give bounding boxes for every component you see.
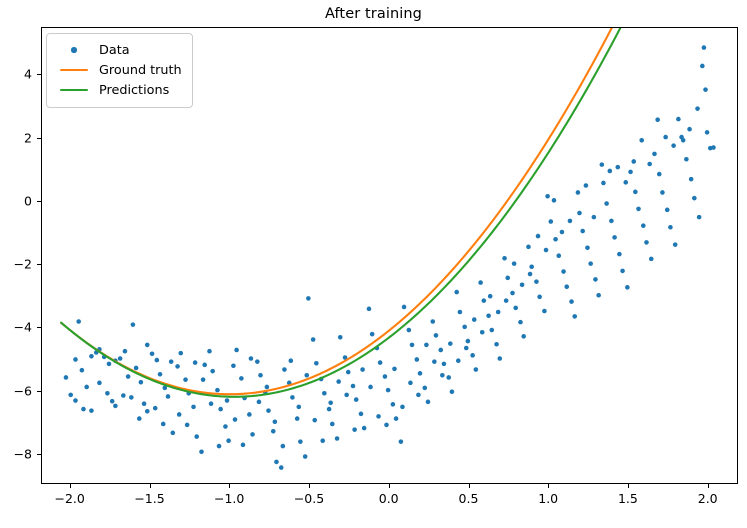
data-point — [458, 310, 463, 315]
data-point — [113, 404, 118, 409]
data-point — [142, 401, 147, 406]
data-point — [600, 162, 605, 167]
data-point — [657, 172, 662, 177]
data-point — [615, 165, 620, 170]
y-tick-label: −4 — [0, 320, 32, 335]
data-point — [450, 389, 455, 394]
data-point — [215, 388, 220, 393]
data-point — [391, 402, 396, 407]
data-point — [572, 314, 577, 319]
y-tick-label: −8 — [0, 447, 32, 462]
data-point — [351, 384, 356, 389]
legend-line-icon — [55, 89, 93, 92]
data-point — [346, 370, 351, 375]
data-point — [64, 375, 69, 380]
data-point — [488, 294, 493, 299]
data-point — [454, 290, 459, 295]
data-point — [134, 366, 139, 371]
data-point — [118, 356, 123, 361]
data-point — [529, 264, 534, 269]
legend-item: Predictions — [55, 80, 184, 100]
legend-item: Ground truth — [55, 60, 184, 80]
data-point — [580, 229, 585, 234]
data-point — [644, 240, 649, 245]
data-point — [73, 357, 78, 362]
y-tick-mark — [37, 74, 41, 75]
data-point — [440, 373, 445, 378]
data-point — [612, 235, 617, 240]
scatter-points — [64, 45, 716, 470]
data-point — [367, 307, 372, 312]
data-point — [684, 157, 689, 162]
y-tick-mark — [37, 138, 41, 139]
data-point — [518, 320, 523, 325]
legend-marker-icon — [55, 47, 93, 52]
data-point — [158, 372, 163, 377]
data-point — [556, 253, 561, 258]
data-point — [225, 398, 230, 403]
data-point — [486, 314, 491, 319]
data-point — [470, 353, 475, 358]
data-point — [620, 269, 625, 274]
data-point — [399, 439, 404, 444]
x-tick-label: −2.0 — [55, 491, 85, 506]
data-point — [330, 422, 335, 427]
data-point — [408, 381, 413, 386]
data-point — [247, 412, 252, 417]
data-point — [601, 181, 606, 186]
x-tick-mark — [548, 484, 549, 488]
data-point — [131, 322, 136, 327]
legend: DataGround truthPredictions — [46, 33, 193, 108]
data-point — [258, 373, 263, 378]
data-point — [448, 341, 453, 346]
data-point — [359, 412, 364, 417]
data-point — [210, 369, 215, 374]
legend-item-label: Data — [93, 43, 130, 58]
data-point — [528, 272, 533, 277]
x-tick-mark — [389, 484, 390, 488]
data-point — [378, 360, 383, 365]
data-point — [303, 454, 308, 459]
data-point — [564, 284, 569, 289]
data-point — [384, 423, 389, 428]
data-point — [545, 194, 550, 199]
data-point — [585, 246, 590, 251]
data-point — [266, 408, 271, 413]
legend-item-label: Predictions — [93, 83, 169, 98]
data-point — [233, 417, 238, 422]
data-point — [652, 152, 657, 157]
data-point — [394, 416, 399, 421]
data-point — [129, 395, 134, 400]
data-point — [456, 358, 461, 363]
data-point — [430, 319, 435, 324]
data-point — [649, 257, 654, 262]
data-point — [510, 291, 515, 296]
data-point — [360, 367, 365, 372]
data-point — [177, 412, 182, 417]
data-point — [255, 359, 260, 364]
data-point — [281, 444, 286, 449]
data-point — [304, 373, 309, 378]
data-point — [512, 261, 517, 266]
data-point — [311, 337, 316, 342]
data-point — [552, 198, 557, 203]
x-tick-label: −1.5 — [134, 491, 164, 506]
x-tick-mark — [628, 484, 629, 488]
data-point — [327, 407, 332, 412]
data-point — [296, 405, 301, 410]
data-point — [505, 276, 510, 281]
data-point — [400, 405, 405, 410]
data-point — [489, 328, 494, 333]
data-point — [290, 395, 295, 400]
data-point — [110, 399, 115, 404]
data-point — [392, 367, 397, 372]
data-point — [320, 438, 325, 443]
data-point — [494, 342, 499, 347]
page-title: After training — [0, 6, 747, 22]
data-point — [207, 349, 212, 354]
data-point — [641, 223, 646, 228]
data-point — [462, 325, 467, 330]
data-point — [497, 356, 502, 361]
data-point — [668, 225, 673, 230]
x-tick-label: −1.0 — [214, 491, 244, 506]
data-point — [335, 436, 340, 441]
data-point — [153, 406, 158, 411]
data-point — [472, 317, 477, 322]
data-point — [121, 393, 126, 398]
data-point — [155, 358, 160, 363]
data-point — [496, 310, 501, 315]
data-point — [344, 393, 349, 398]
data-point — [705, 130, 710, 135]
data-point — [166, 394, 171, 399]
data-point — [466, 339, 471, 344]
data-point — [426, 400, 431, 405]
data-point — [282, 367, 287, 372]
data-point — [502, 256, 507, 261]
data-point — [362, 426, 367, 431]
data-point — [592, 215, 597, 220]
y-tick-label: 2 — [0, 130, 32, 145]
data-point — [588, 261, 593, 266]
data-point — [183, 377, 188, 382]
x-tick-label: 1.0 — [538, 491, 558, 506]
data-point — [625, 285, 630, 290]
data-point — [126, 374, 131, 379]
data-point — [145, 343, 150, 348]
data-point — [604, 201, 609, 206]
data-point — [474, 367, 479, 372]
data-point — [73, 398, 78, 403]
data-point — [697, 215, 702, 220]
data-point — [609, 219, 614, 224]
data-point — [368, 385, 373, 390]
data-point — [376, 414, 381, 419]
y-tick-mark — [37, 264, 41, 265]
data-point — [185, 423, 190, 428]
data-point — [526, 245, 531, 250]
y-tick-label: 0 — [0, 193, 32, 208]
data-point — [623, 180, 628, 185]
data-point — [504, 298, 509, 303]
matplotlib-figure: After training −2.0−1.5−1.0−0.50.00.51.0… — [0, 0, 747, 528]
data-point — [689, 177, 694, 182]
data-point — [298, 439, 303, 444]
data-point — [257, 400, 262, 405]
x-tick-label: 1.5 — [618, 491, 638, 506]
data-point — [191, 405, 196, 410]
data-point — [107, 362, 112, 367]
data-point — [647, 162, 652, 167]
data-point — [548, 219, 553, 224]
dot-glyph — [71, 47, 76, 52]
data-point — [170, 431, 175, 436]
x-tick-mark — [708, 484, 709, 488]
data-point — [209, 401, 214, 406]
data-point — [223, 424, 228, 429]
data-point — [84, 385, 89, 390]
data-point — [273, 419, 278, 424]
data-point — [703, 87, 708, 92]
legend-line-icon — [55, 69, 93, 72]
y-tick-mark — [37, 201, 41, 202]
data-point — [442, 362, 447, 367]
data-point — [231, 363, 236, 368]
data-point — [193, 360, 198, 365]
data-point — [226, 438, 231, 443]
data-point — [561, 269, 566, 274]
data-point — [312, 418, 317, 423]
data-point — [175, 364, 180, 369]
data-point — [687, 127, 692, 132]
data-point — [655, 117, 660, 122]
data-point — [438, 348, 443, 353]
data-point — [446, 375, 451, 380]
data-point — [354, 397, 359, 402]
y-tick-mark — [37, 327, 41, 328]
data-point — [576, 190, 581, 195]
data-point — [673, 242, 678, 247]
data-point — [596, 293, 601, 298]
data-point — [239, 376, 244, 381]
data-point — [480, 330, 485, 335]
data-point — [544, 248, 549, 253]
data-point — [169, 359, 174, 364]
x-tick-label: −0.5 — [294, 491, 324, 506]
x-tick-mark — [229, 484, 230, 488]
data-point — [249, 356, 254, 361]
data-point — [410, 343, 415, 348]
data-point — [568, 219, 573, 224]
data-point — [415, 357, 420, 362]
data-point — [76, 319, 81, 324]
line-glyph — [60, 69, 88, 72]
data-point — [711, 145, 716, 150]
data-point — [81, 407, 86, 412]
data-point — [123, 349, 128, 354]
data-point — [271, 429, 276, 434]
data-point — [386, 388, 391, 393]
data-point — [194, 434, 199, 439]
data-point — [265, 385, 270, 390]
x-tick-label: 0.5 — [459, 491, 479, 506]
data-point — [692, 196, 697, 201]
legend-item-label: Ground truth — [93, 63, 182, 78]
data-point — [137, 416, 142, 421]
data-point — [536, 234, 541, 239]
x-tick-label: 2.0 — [698, 491, 718, 506]
data-point — [608, 169, 613, 174]
data-point — [202, 363, 207, 368]
data-point — [660, 190, 665, 195]
data-point — [218, 407, 223, 412]
data-point — [338, 335, 343, 340]
data-point — [537, 295, 542, 300]
y-tick-label: −2 — [0, 257, 32, 272]
y-tick-mark — [37, 391, 41, 392]
data-point — [639, 138, 644, 143]
data-point — [663, 135, 668, 140]
data-point — [234, 348, 239, 353]
data-point — [636, 207, 641, 212]
data-point — [434, 333, 439, 338]
data-point — [702, 45, 707, 50]
data-point — [665, 208, 670, 213]
data-point — [139, 380, 144, 385]
data-point — [97, 381, 102, 386]
data-point — [432, 359, 437, 364]
data-point — [700, 64, 705, 69]
data-point — [352, 427, 357, 432]
data-point — [328, 400, 333, 405]
data-point — [521, 334, 526, 339]
data-point — [250, 432, 255, 437]
data-point — [161, 422, 166, 427]
data-point — [279, 465, 284, 470]
data-point — [513, 306, 518, 311]
line-glyph — [60, 89, 88, 92]
data-point — [241, 443, 246, 448]
data-point — [464, 346, 469, 351]
data-point — [89, 408, 94, 413]
data-point — [336, 379, 341, 384]
data-point — [633, 190, 638, 195]
x-tick-mark — [309, 484, 310, 488]
data-point — [306, 296, 311, 301]
x-tick-mark — [70, 484, 71, 488]
data-point — [534, 279, 539, 284]
data-point — [105, 391, 110, 396]
data-point — [422, 386, 427, 391]
x-tick-mark — [469, 484, 470, 488]
data-point — [201, 377, 206, 382]
data-point — [584, 183, 589, 188]
data-point — [482, 298, 487, 303]
data-point — [289, 358, 294, 363]
data-point — [217, 444, 222, 449]
data-point — [553, 237, 558, 242]
data-point — [322, 391, 327, 396]
data-point — [542, 309, 547, 314]
y-tick-label: −6 — [0, 383, 32, 398]
data-point — [145, 409, 150, 414]
data-point — [695, 106, 700, 111]
data-point — [679, 135, 684, 140]
data-point — [295, 416, 300, 421]
data-point — [383, 374, 388, 379]
x-tick-mark — [150, 484, 151, 488]
data-point — [178, 351, 183, 356]
data-point — [416, 393, 421, 398]
data-point — [628, 170, 633, 175]
data-point — [68, 393, 73, 398]
data-point — [402, 305, 407, 310]
data-point — [150, 351, 155, 356]
data-point — [80, 368, 85, 373]
data-point — [593, 277, 598, 282]
data-point — [370, 332, 375, 337]
data-point — [617, 252, 622, 257]
y-tick-label: 4 — [0, 67, 32, 82]
data-point — [418, 371, 423, 376]
data-point — [676, 117, 681, 122]
data-point — [631, 159, 636, 164]
data-point — [560, 230, 565, 235]
data-point — [520, 283, 525, 288]
y-tick-mark — [37, 454, 41, 455]
data-point — [89, 354, 94, 359]
data-point — [424, 343, 429, 348]
data-point — [199, 449, 204, 454]
data-point — [274, 460, 279, 465]
data-point — [577, 211, 582, 216]
data-point — [407, 328, 412, 333]
x-tick-label: 0.0 — [379, 491, 399, 506]
data-point — [569, 299, 574, 304]
data-point — [478, 280, 483, 285]
legend-item: Data — [55, 40, 184, 60]
data-point — [314, 361, 319, 366]
data-point — [671, 143, 676, 148]
